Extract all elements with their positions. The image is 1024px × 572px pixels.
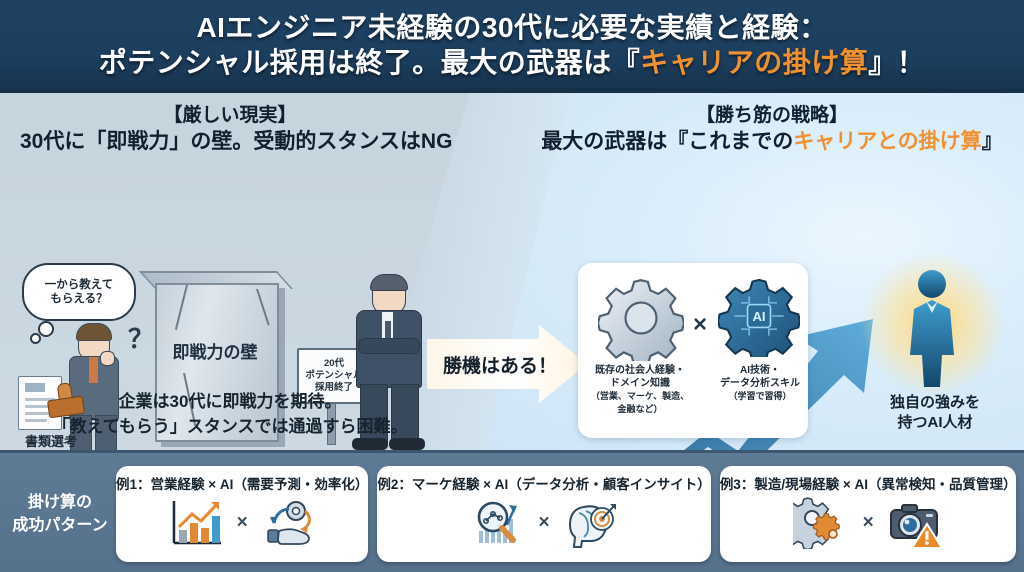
pattern-card-1-title: 例1：営業経験 × AI（需要予測・効率化） [116,473,368,493]
pattern-card-2[interactable]: 例2：マーケ経験 × AI（データ分析・顧客インサイト） [377,466,710,562]
pattern-card-1-icons: × [167,497,318,549]
ai-skill-caption: AI技術・ データ分析スキル （学習で習得） [702,365,818,403]
sign-line1: 20代 [324,358,344,370]
exp-cap-line1: 既存の社会人経験・ [578,365,702,378]
ai-cap-line1: AI技術・ [702,365,818,378]
question-mark-icon: ？ [128,319,154,356]
formula-operator: × [693,311,707,339]
header-line2-pre: ポテンシャル採用は終了。最大の武器は『 [99,47,641,78]
camera-alert-icon [886,497,944,549]
hero-cap-line2: 持つAI人材 [860,413,1010,433]
experience-caption: 既存の社会人経験・ ドメイン知識 （営業、マーケ、製造、 金融など） [578,365,702,415]
exp-cap-line4: 金融など） [578,403,702,416]
pattern-card-3-operator: × [863,512,874,534]
right-title-pre: 最大の武器は『これまでの [541,130,793,153]
robot-hand-gear-icon [260,497,318,549]
pattern-card-1-operator: × [237,512,248,534]
pattern-card-2-title: 例2：マーケ経験 × AI（データ分析・顧客インサイト） [377,473,710,493]
right-title-line1: 【勝ち筋の戦略】 [520,103,1024,128]
exp-cap-line3: （営業、マーケ、製造、 [578,390,702,403]
left-title-line2: 30代に「即戦力」の壁。受動的スタンスはNG [20,128,440,156]
right-title-post: 』 [982,130,1003,153]
header-line2-post: 』！ [868,47,925,78]
sign-line2: ポテンシャル [305,370,362,382]
pattern-card-3-title: 例3：製造/現場経験 × AI（異常検知・品質管理） [720,473,1017,493]
header-banner: AIエンジニア未経験の30代に必要な実績と経験： ポテンシャル採用は終了。最大の… [0,0,1024,92]
pattern-card-3[interactable]: 例3：製造/現場経験 × AI（異常検知・品質管理） × [720,466,1017,562]
ai-talent-figure-icon [900,269,964,389]
left-panel-title: 【厳しい現実】 30代に「即戦力」の壁。受動的スタンスはNG [20,103,440,156]
left-panel-footer: 企業は30代に即戦力を期待。 「教えてもらう」スタンスでは通過すら困難。 [20,389,440,439]
left-footer-line2: 「教えてもらう」スタンスでは通過すら困難。 [20,414,440,439]
ai-chip-label: AI [752,309,765,324]
pattern-card-2-icons: × [469,497,620,549]
ai-talent-caption: 独自の強みを 持つAI人材 [860,393,1010,433]
pattern-cards: 例1：営業経験 × AI（需要予測・効率化） × [116,466,1024,562]
pattern-card-2-operator: × [539,512,550,534]
header-line2-accent: キャリアの掛け算 [640,47,868,78]
left-footer-line1: 企業は30代に即戦力を期待。 [20,389,440,414]
right-title-line2: 最大の武器は『これまでのキャリアとの掛け算』 [520,128,1024,156]
header-title-line1: AIエンジニア未経験の30代に必要な実績と経験： [196,11,827,45]
success-patterns-bar: 掛け算の 成功パターン 例1：営業経験 × AI（需要予測・効率化） [0,450,1024,572]
brain-target-icon [562,497,620,549]
ai-technology-gear-icon: AI [718,275,800,357]
opportunity-arrow-label: 勝機はある！ [443,351,557,378]
exp-cap-line2: ドメイン知識 [578,378,702,391]
right-title-accent: キャリアとの掛け算 [793,130,981,153]
hero-cap-line1: 独自の強みを [860,393,1010,413]
infographic-canvas: AIエンジニア未経験の30代に必要な実績と経験： ポテンシャル採用は終了。最大の… [0,0,1024,572]
bottom-label-line2: 成功パターン [4,514,116,537]
wall-label: 即戦力の壁 [155,338,275,363]
bottom-label-line1: 掛け算の [4,491,116,514]
left-title-line1: 【厳しい現実】 [20,103,440,128]
bubble-dot-large [38,321,54,337]
thought-bubble: 一から教えてもらえる？ [22,263,136,321]
success-patterns-label: 掛け算の 成功パターン [4,491,116,537]
header-title-line2: ポテンシャル採用は終了。最大の武器は『キャリアの掛け算』！ [99,45,926,81]
main-stage: 【厳しい現実】 30代に「即戦力」の壁。受動的スタンスはNG 一から教えてもらえ… [0,93,1024,450]
experience-gear-icon [598,275,684,361]
ai-cap-line3: （学習で習得） [702,390,818,403]
ai-cap-line2: データ分析スキル [702,378,818,391]
right-panel-title: 【勝ち筋の戦略】 最大の武器は『これまでのキャリアとの掛け算』 [520,103,1024,156]
bar-chart-growth-icon [167,497,225,549]
gears-icon [793,497,851,549]
pattern-card-1[interactable]: 例1：営業経験 × AI（需要予測・効率化） × [116,466,368,562]
bubble-dot-small [30,333,41,344]
magnifier-chart-icon [469,497,527,549]
pattern-card-3-icons: × [793,497,944,549]
